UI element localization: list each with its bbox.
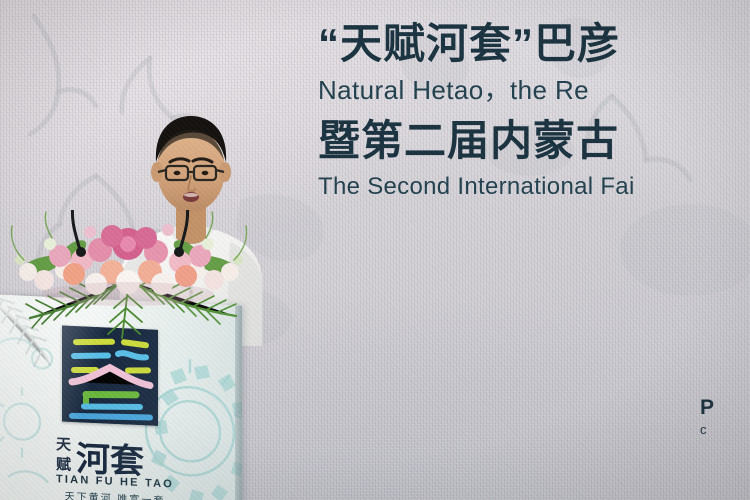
photo-scene: “天赋河套”巴彦 Natural Hetao，the Re 暨第二届内蒙古 Th… xyxy=(0,0,750,500)
banner-title-chinese-line1: “天赋河套”巴彦 xyxy=(318,22,750,66)
banner-secondary-text: P c xyxy=(700,396,714,438)
banner-secondary-line1: P xyxy=(700,396,714,419)
banner-secondary-line2: c xyxy=(700,422,714,438)
banner-title-english-line2: The Second International Fai xyxy=(318,170,750,205)
event-banner: “天赋河套”巴彦 Natural Hetao，the Re 暨第二届内蒙古 Th… xyxy=(318,22,750,205)
banner-title-english-line1: Natural Hetao，the Re xyxy=(318,72,750,110)
banner-title-chinese-line2: 暨第二届内蒙古 xyxy=(318,119,750,163)
floral-arrangement xyxy=(4,210,254,340)
